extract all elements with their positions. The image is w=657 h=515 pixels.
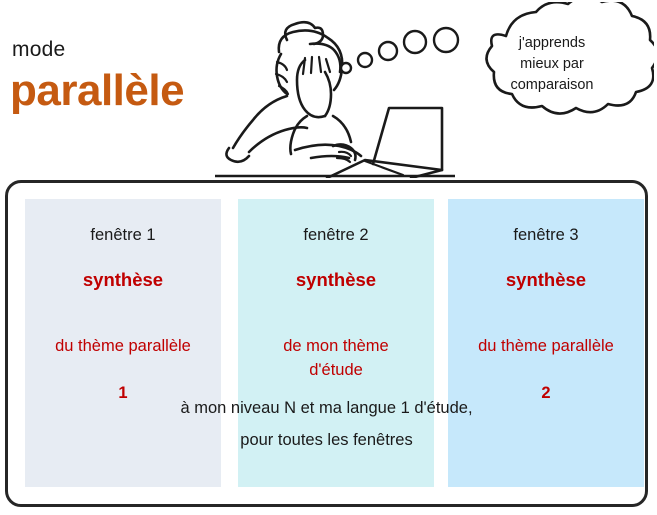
window-column-3[interactable]: fenêtre 3 synthèse du thème parallèle 2 <box>448 199 644 487</box>
synthese-label-2: synthèse <box>238 269 434 291</box>
mode-label: mode <box>12 38 65 62</box>
synthese-label-1: synthèse <box>25 269 221 291</box>
column-detail-text-1: du thème parallèle <box>55 337 191 355</box>
column-detail-2: de mon thème d'étude <box>234 312 438 382</box>
column-detail-1: du thème parallèle 1 <box>21 312 225 406</box>
window-label-3: fenêtre 3 <box>448 226 644 245</box>
column-detail-text-3: du thème parallèle <box>478 337 614 355</box>
window-column-2[interactable]: fenêtre 2 synthèse de mon thème d'étude <box>238 199 434 487</box>
thought-dots <box>330 18 460 80</box>
synthese-label-3: synthèse <box>448 269 644 291</box>
column-detail-3: du thème parallèle 2 <box>444 312 648 406</box>
column-detail-number-3: 2 <box>541 384 550 402</box>
window-column-1[interactable]: fenêtre 1 synthèse du thème parallèle 1 <box>25 199 221 487</box>
window-label-1: fenêtre 1 <box>25 226 221 245</box>
header-area: mode parallèle <box>0 0 657 178</box>
window-label-2: fenêtre 2 <box>238 226 434 245</box>
page-title: parallèle <box>10 68 184 114</box>
thought-bubble-text: j'apprends mieux par comparaison <box>472 33 632 96</box>
thought-dots-icon <box>330 18 460 80</box>
column-detail-text-2: de mon thème d'étude <box>283 337 388 378</box>
parallel-mode-panel: fenêtre 1 synthèse du thème parallèle 1 … <box>5 180 648 507</box>
column-detail-number-1: 1 <box>118 384 127 402</box>
